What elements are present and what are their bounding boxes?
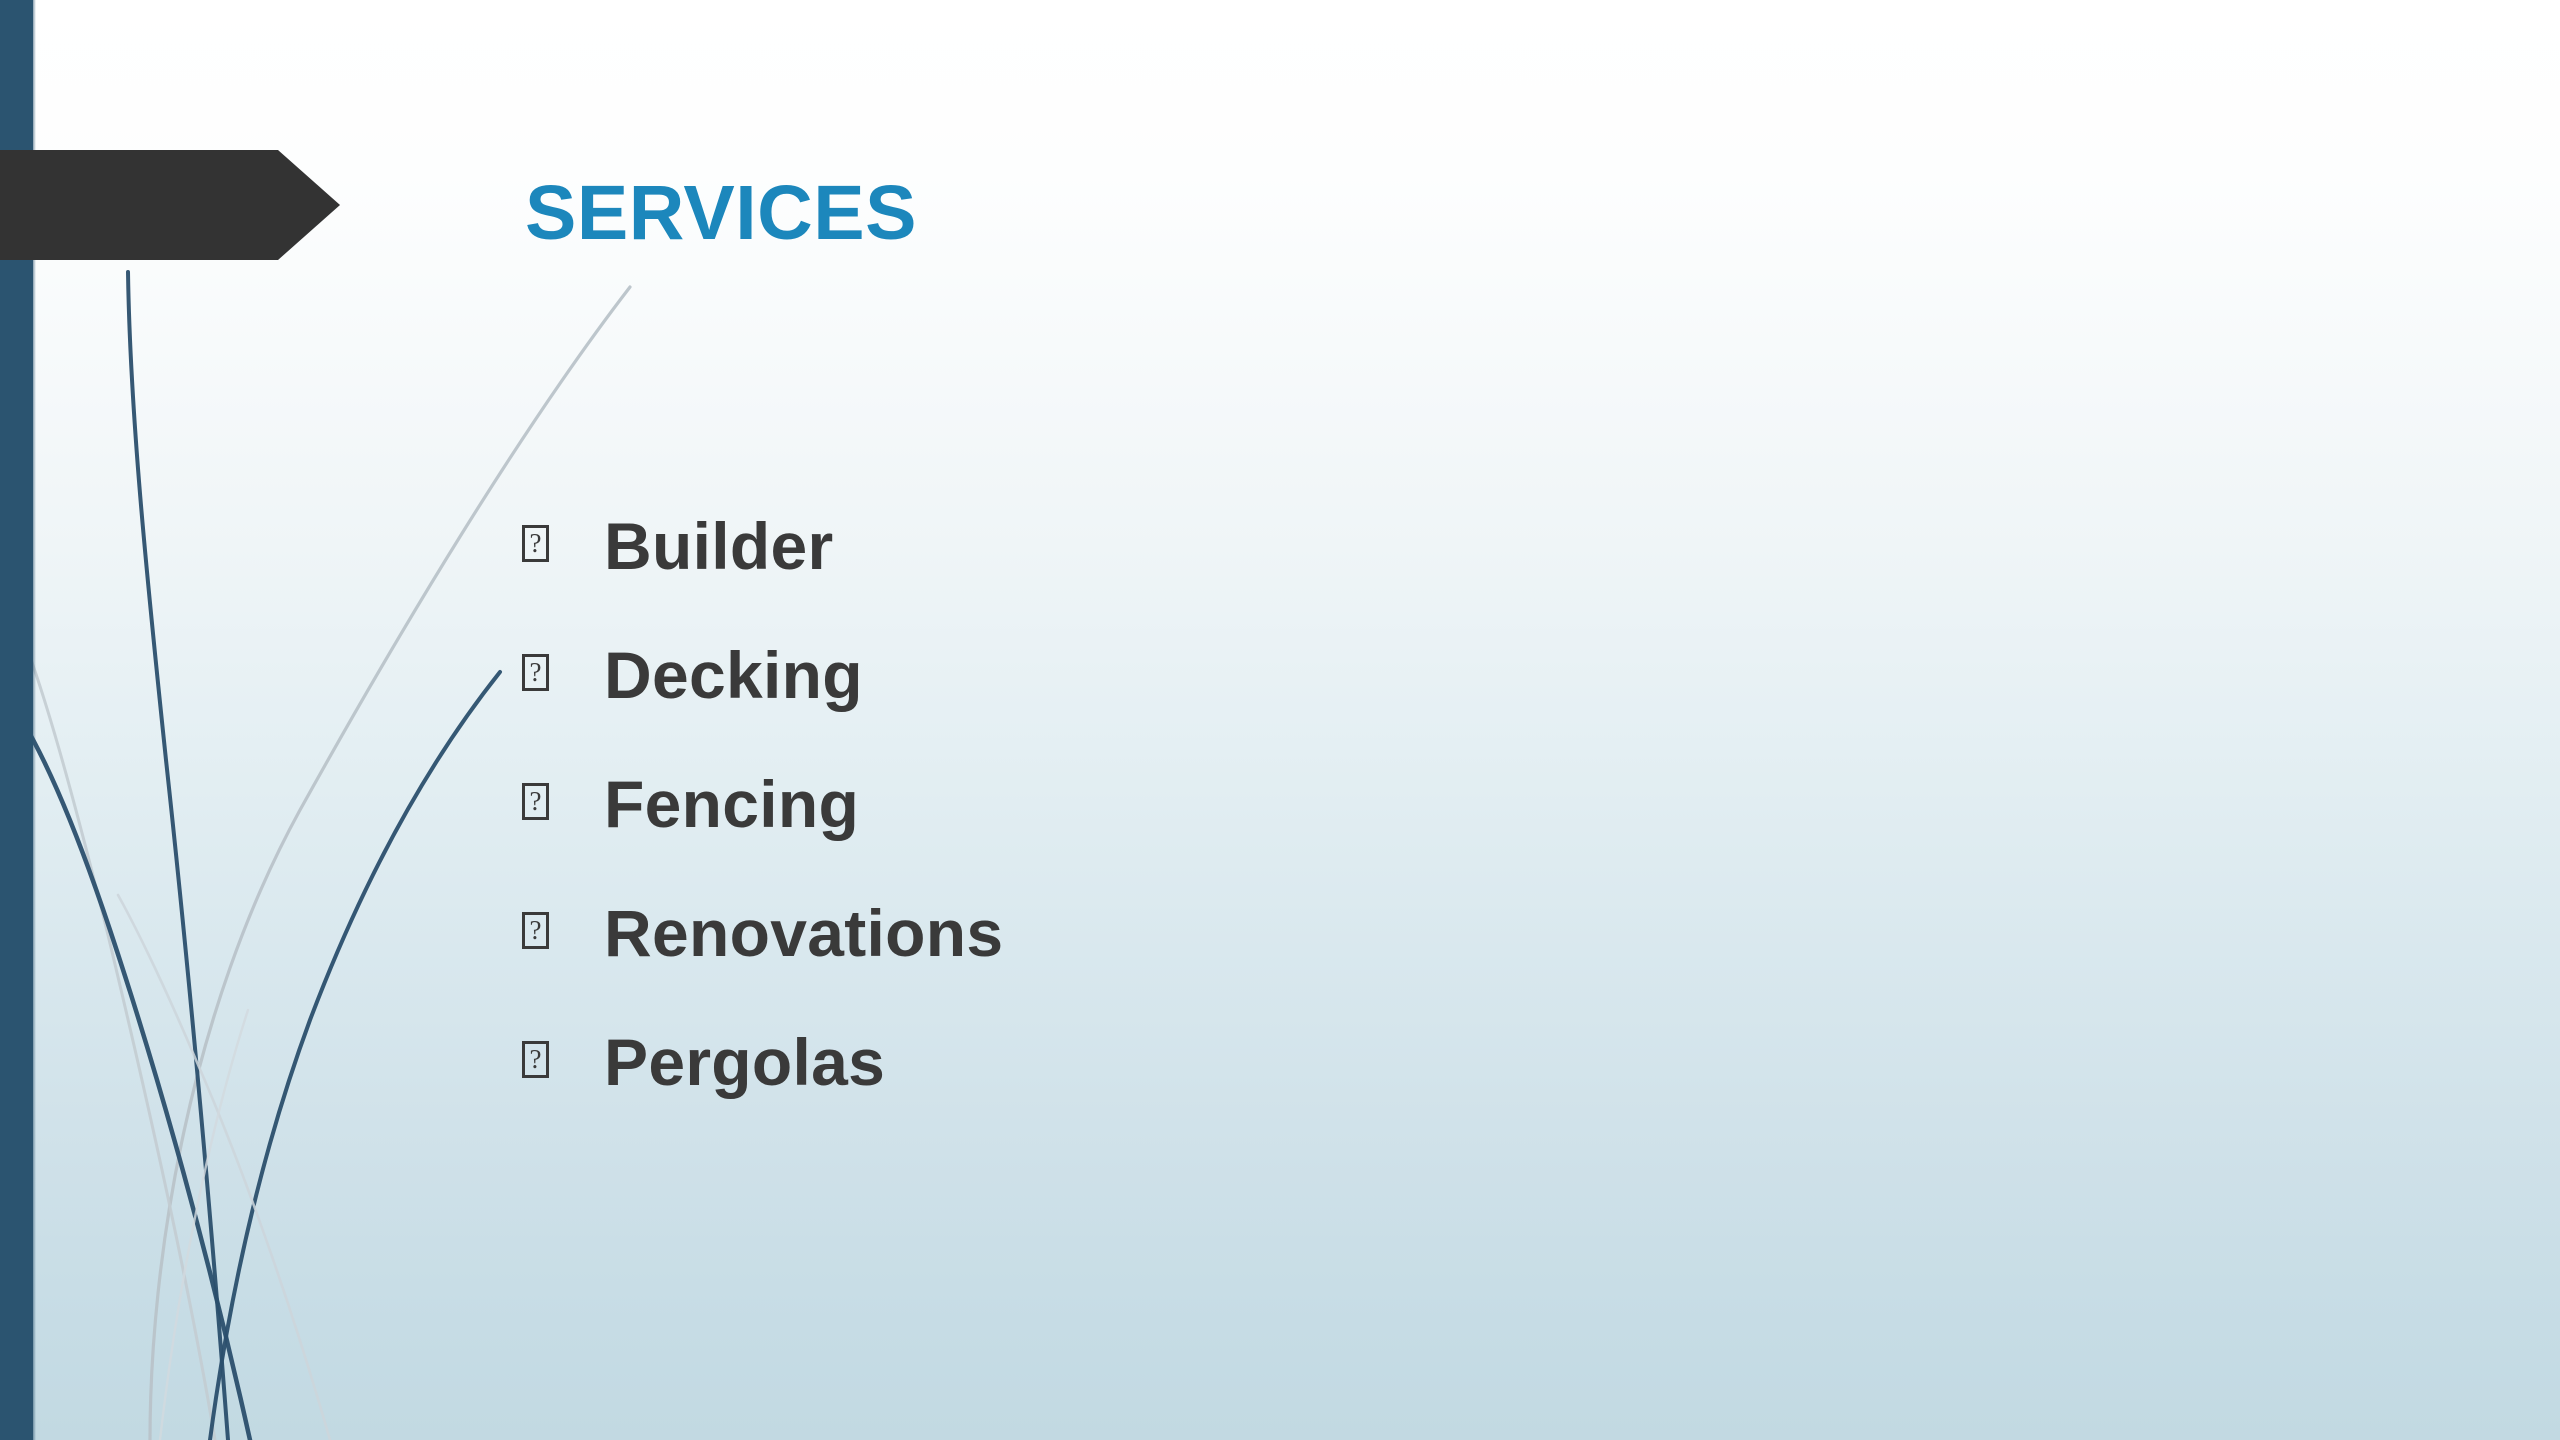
list-item: ? Decking — [522, 610, 1003, 739]
missing-glyph-bullet-icon: ? — [522, 912, 549, 949]
list-item-label: Fencing — [604, 771, 859, 837]
missing-glyph-bullet-icon: ? — [522, 1041, 549, 1078]
reed-light-curve-3 — [118, 895, 330, 1440]
decorative-reeds-artwork — [0, 0, 2560, 1440]
list-item-label: Builder — [604, 513, 833, 579]
reed-dark-curve-2 — [0, 688, 250, 1440]
reed-dark-curve-3 — [210, 672, 500, 1440]
title-chevron-banner — [0, 150, 340, 260]
services-bullet-list: ? Builder ? Decking ? Fencing ? Renovati… — [522, 481, 1003, 1126]
reed-light-curve-2 — [20, 630, 215, 1440]
list-item-label: Pergolas — [604, 1029, 885, 1095]
missing-glyph-bullet-icon: ? — [522, 525, 549, 562]
presentation-slide: SERVICES ? Builder ? Decking ? Fencing ?… — [0, 0, 2560, 1440]
list-item: ? Fencing — [522, 739, 1003, 868]
reed-dark-curve-1 — [128, 272, 228, 1440]
list-item: ? Builder — [522, 481, 1003, 610]
missing-glyph-bullet-icon: ? — [522, 783, 549, 820]
reed-light-curve-4 — [160, 1010, 248, 1440]
list-item: ? Pergolas — [522, 997, 1003, 1126]
list-item-label: Renovations — [604, 900, 1003, 966]
list-item-label: Decking — [604, 642, 863, 708]
slide-title: SERVICES — [525, 173, 917, 254]
missing-glyph-bullet-icon: ? — [522, 654, 549, 691]
list-item: ? Renovations — [522, 868, 1003, 997]
